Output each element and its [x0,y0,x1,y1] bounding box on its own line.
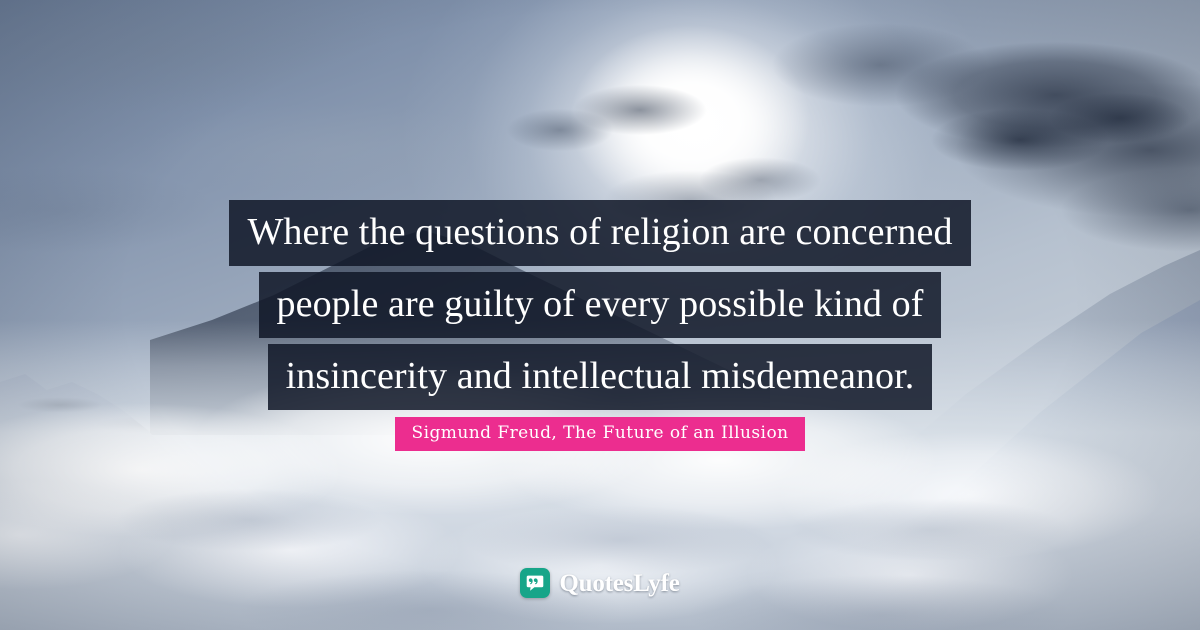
brand-logo: QuotesLyfe [0,568,1200,598]
attribution-wrapper: Sigmund Freud, The Future of an Illusion [0,417,1200,451]
quote-line-3: insincerity and intellectual misdemeanor… [268,344,933,410]
quote-bubble-icon [520,568,550,598]
attribution-badge: Sigmund Freud, The Future of an Illusion [395,417,804,451]
quote-text-block: Where the questions of religion are conc… [0,200,1200,416]
brand-wordmark: QuotesLyfe [559,571,679,596]
quote-line-1: Where the questions of religion are conc… [229,200,970,266]
quote-card: Where the questions of religion are conc… [0,0,1200,630]
quote-line-2: people are guilty of every possible kind… [259,272,942,338]
